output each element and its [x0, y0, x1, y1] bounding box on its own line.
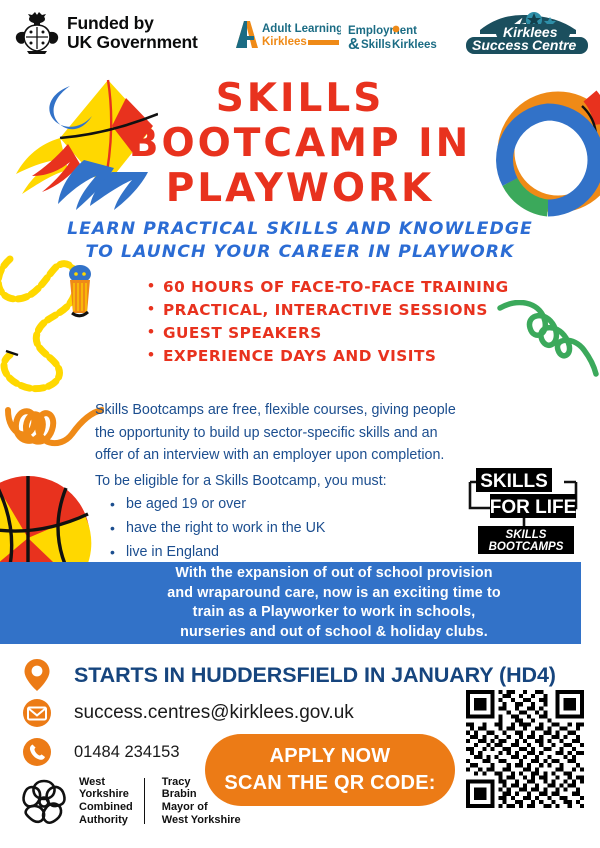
feature-label: EXPERIENCE DAYS AND VISITS: [163, 347, 436, 365]
funded-by-text: Funded by UK Government: [67, 14, 198, 52]
banner-line-1: With the expansion of out of school prov…: [175, 564, 492, 584]
envelope-icon: [22, 698, 52, 728]
banner-line-4: nurseries and out of school & holiday cl…: [180, 623, 488, 643]
highlight-banner: With the expansion of out of school prov…: [87, 562, 581, 644]
list-item: have the right to work in the UK: [110, 516, 440, 540]
sfl-bottom-line-1: SKILLS: [506, 529, 547, 541]
qr-code[interactable]: [466, 690, 584, 808]
svg-text:Kirklees: Kirklees: [262, 36, 307, 48]
west-yorkshire-combined-authority-logo: West Yorkshire Combined Authority Tracy …: [18, 775, 241, 827]
list-item: be aged 19 or over: [110, 492, 440, 516]
banner-line-3: train as a Playworker to work in schools…: [193, 603, 476, 623]
royal-crest-icon: [14, 12, 60, 54]
apply-now-button[interactable]: APPLY NOW SCAN THE QR CODE:: [205, 734, 455, 806]
list-item: • GUEST SPEAKERS: [148, 324, 548, 342]
sfl-bottom-line-2: BOOTCAMPS: [489, 541, 564, 553]
poster-root: Funded by UK Government Adult Learning K…: [0, 0, 600, 848]
body-paragraph-2: To be eligible for a Skills Bootcamp, yo…: [95, 470, 460, 493]
sfl-middle-text: FOR LIFE: [490, 497, 577, 518]
contact-phone-row[interactable]: 01484 234153: [22, 737, 180, 767]
sfl-top-text: SKILLS: [480, 471, 548, 492]
location-text: STARTS IN HUDDERSFIELD IN JANUARY (HD4): [74, 663, 556, 688]
subtitle-line-2: TO LAUNCH YOUR CAREER IN PLAYWORK: [0, 241, 600, 264]
contact-email-row[interactable]: success.centres@kirklees.gov.uk: [22, 698, 354, 728]
footer-divider: [144, 778, 145, 824]
bullet-dot-icon: •: [148, 346, 154, 363]
header-logo-bar: Funded by UK Government Adult Learning K…: [0, 0, 600, 66]
funded-by-uk-government-logo: Funded by UK Government: [14, 12, 198, 54]
skills-for-life-logo: SKILLS FOR LIFE SKILLS BOOTCAMPS: [462, 464, 584, 556]
svg-text:Success: Success: [472, 37, 529, 53]
orange-spring-decoration: [4, 400, 104, 455]
contact-location-row: STARTS IN HUDDERSFIELD IN JANUARY (HD4): [22, 658, 556, 692]
list-item: • EXPERIENCE DAYS AND VISITS: [148, 347, 548, 365]
banner-left-fill: [0, 562, 90, 644]
feature-label: PRACTICAL, INTERACTIVE SESSIONS: [163, 301, 488, 319]
adult-learning-kirklees-logo: Adult Learning Kirklees: [233, 19, 341, 55]
svg-text:&: &: [348, 36, 360, 52]
title-line-2: BOOTCAMP IN: [0, 121, 600, 166]
kirklees-success-centre-logo: Kirklees Success Centre: [464, 12, 590, 61]
mayor-name: Tracy Brabin Mayor of West Yorkshire: [162, 776, 241, 826]
feature-label: GUEST SPEAKERS: [163, 324, 322, 342]
list-item: live in England: [110, 540, 440, 564]
yorkshire-rose-icon: [18, 775, 70, 827]
title-line-1: SKILLS: [0, 76, 600, 121]
subtitle: LEARN PRACTICAL SKILLS AND KNOWLEDGE TO …: [0, 218, 600, 264]
body-copy: Skills Bootcamps are free, flexible cour…: [95, 399, 460, 492]
location-pin-icon: [22, 658, 52, 692]
authority-name: West Yorkshire Combined Authority: [79, 776, 133, 826]
banner-line-2: and wraparound care, now is an exciting …: [167, 584, 501, 604]
bullet-dot-icon: •: [148, 300, 154, 317]
phone-icon: [22, 737, 52, 767]
bullet-dot-icon: •: [148, 323, 154, 340]
body-paragraph-1: Skills Bootcamps are free, flexible cour…: [95, 399, 460, 467]
svg-text:Centre: Centre: [532, 37, 577, 53]
employment-skills-kirklees-logo: Employment & Skills Kirklees: [348, 22, 456, 57]
svg-text:Adult Learning: Adult Learning: [262, 23, 341, 35]
title-line-3: PLAYWORK: [0, 166, 600, 211]
list-item: • PRACTICAL, INTERACTIVE SESSIONS: [148, 301, 548, 319]
eligibility-list: be aged 19 or over have the right to wor…: [110, 492, 440, 564]
apply-line-1: APPLY NOW: [270, 743, 391, 770]
page-title: SKILLS BOOTCAMP IN PLAYWORK: [0, 76, 600, 211]
svg-text:Kirklees: Kirklees: [392, 39, 437, 51]
email-text[interactable]: success.centres@kirklees.gov.uk: [74, 702, 354, 724]
features-list: • 60 HOURS OF FACE-TO-FACE TRAINING • PR…: [148, 278, 548, 370]
subtitle-line-1: LEARN PRACTICAL SKILLS AND KNOWLEDGE: [0, 218, 600, 241]
apply-line-2: SCAN THE QR CODE:: [224, 770, 435, 797]
bullet-dot-icon: •: [148, 277, 154, 294]
list-item: • 60 HOURS OF FACE-TO-FACE TRAINING: [148, 278, 548, 296]
feature-label: 60 HOURS OF FACE-TO-FACE TRAINING: [163, 278, 509, 296]
phone-text[interactable]: 01484 234153: [74, 743, 180, 762]
svg-text:Skills: Skills: [361, 39, 391, 51]
